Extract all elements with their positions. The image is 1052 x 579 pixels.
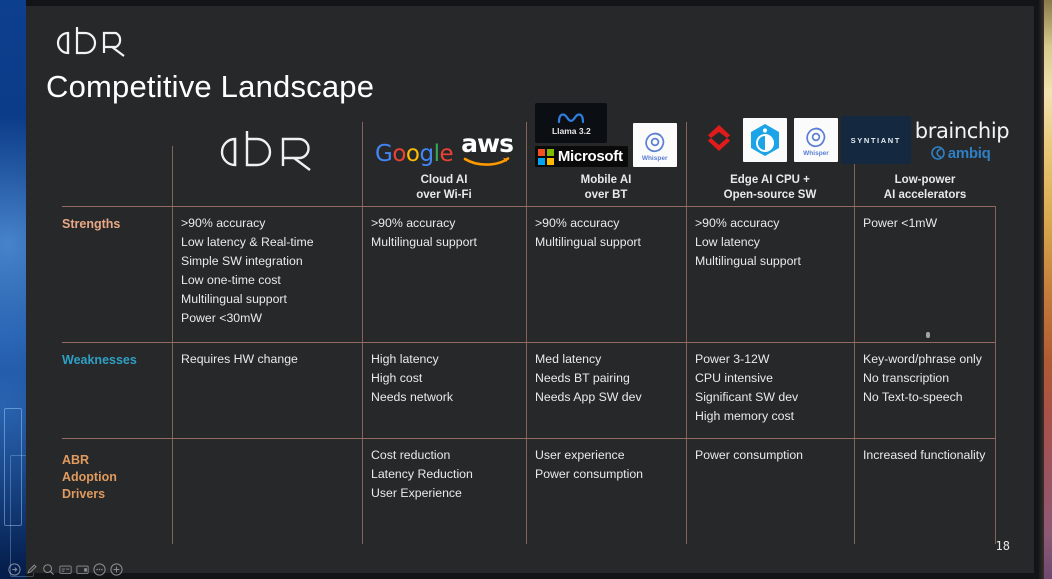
row-label-line: Weaknesses (62, 352, 137, 369)
slide-header: Competitive Landscape (46, 22, 374, 104)
ambiq-logo-icon: ambiq (915, 145, 991, 162)
ambiq-label: ambiq (948, 145, 991, 162)
cell-drivers-mobile-ai: User experience Power consumption (527, 438, 686, 544)
cell-line: No Text-to-speech (863, 388, 988, 407)
column-caption-cloud-ai: Cloud AI over Wi-Fi (416, 173, 471, 202)
cell-line: Power 3-12W (695, 350, 846, 369)
caption-line-1: Low-power (884, 173, 966, 187)
caption-line-1: Edge AI CPU + (724, 173, 817, 187)
cell-line: Latency Reduction (371, 465, 518, 484)
cell-line: User experience (535, 446, 678, 465)
column-header-abr: . (172, 94, 362, 206)
brainchip-logo-icon: brainchip (915, 119, 1009, 143)
cell-weaknesses-edge-ai: Power 3-12W CPU intensive Significant SW… (687, 342, 854, 438)
caption-line-1: Mobile AI (581, 173, 632, 187)
red-diamond-logo-icon (702, 123, 736, 158)
row-label-abr-adoption-drivers: ABR Adoption Drivers (62, 452, 117, 503)
column-header-mobile-ai: Llama 3.2 Microsoft (526, 94, 686, 206)
row-label-weaknesses: Weaknesses (62, 352, 137, 369)
more-options-icon[interactable] (93, 563, 106, 576)
cell-drivers-cloud-ai: Cost reduction Latency Reduction User Ex… (363, 438, 526, 544)
column-caption-mobile-ai: Mobile AI over BT (581, 173, 632, 202)
cell-line: CPU intensive (695, 369, 846, 388)
cell-line: No transcription (863, 369, 988, 388)
llama-label: Llama 3.2 (552, 126, 591, 136)
slide-page-number: 18 (996, 539, 1010, 553)
abr-brand-logo (46, 22, 374, 64)
syntiant-logo-icon: SYNTIANT (841, 116, 911, 164)
presentation-slide: Competitive Landscape (26, 6, 1034, 573)
cell-line: Multilingual support (535, 233, 678, 252)
cell-line: >90% accuracy (371, 214, 518, 233)
present-screen-icon[interactable] (76, 563, 89, 576)
whisper-label: Whisper (803, 150, 829, 157)
cell-line: >90% accuracy (181, 214, 354, 233)
column-header-low-power: SYNTIANT brainchip ambiq Low-power AI ac… (854, 94, 996, 206)
cell-strengths-cloud-ai: >90% accuracy Multilingual support (363, 206, 526, 342)
cell-strengths-low-power: Power <1mW (855, 206, 996, 342)
column-logos-edge-ai: Whisper (702, 113, 838, 167)
openai-whisper-logo-icon: Whisper (633, 123, 677, 167)
aws-logo-icon: aws (461, 133, 513, 168)
cell-line: User Experience (371, 484, 518, 503)
column-header-edge-ai: Whisper Edge AI CPU + Open-source SW (686, 94, 854, 206)
cell-line: Low latency (695, 233, 846, 252)
cell-strengths-mobile-ai: >90% accuracy Multilingual support (527, 206, 686, 342)
cell-line: Simple SW integration (181, 252, 354, 271)
subtitles-icon[interactable] (59, 563, 72, 576)
row-label-strengths: Strengths (62, 216, 120, 233)
backdrop-left-gradient (0, 0, 26, 579)
cell-line: Needs App SW dev (535, 388, 678, 407)
row-label-line: Adoption (62, 469, 117, 486)
cell-weaknesses-abr: Requires HW change (173, 342, 362, 438)
cell-line: Low one-time cost (181, 271, 354, 290)
caption-line-2: over Wi-Fi (416, 188, 471, 202)
caption-line-2: AI accelerators (884, 188, 966, 202)
google-logo-icon: Google (375, 141, 453, 167)
cell-line: Power consumption (535, 465, 678, 484)
magnifier-icon[interactable] (42, 563, 55, 576)
meta-llama-logo-icon: Llama 3.2 (535, 103, 607, 143)
microsoft-logo-icon: Microsoft (535, 146, 627, 167)
cell-line: Power <30mW (181, 309, 354, 328)
cell-weaknesses-cloud-ai: High latency High cost Needs network (363, 342, 526, 438)
cell-drivers-abr (173, 438, 362, 544)
syntiant-label: SYNTIANT (851, 136, 901, 145)
cell-line: Cost reduction (371, 446, 518, 465)
blue-hexagon-logo-icon (743, 118, 787, 162)
cell-drivers-low-power: Increased functionality (855, 438, 1003, 544)
cell-strengths-abr: >90% accuracy Low latency & Real-time Si… (173, 206, 362, 342)
cell-line: Increased functionality (863, 446, 995, 465)
competitive-landscape-table: . Google aws Cloud AI over Wi-Fi (36, 94, 996, 544)
row-label-line: Strengths (62, 216, 120, 233)
column-caption-low-power: Low-power AI accelerators (884, 173, 966, 202)
openai-whisper-logo-icon: Whisper (794, 118, 838, 162)
cell-line: Multilingual support (371, 233, 518, 252)
caption-line-2: over BT (581, 188, 632, 202)
cell-line: High cost (371, 369, 518, 388)
column-caption-edge-ai: Edge AI CPU + Open-source SW (724, 173, 817, 202)
cell-line: Needs BT pairing (535, 369, 678, 388)
cell-line: Power consumption (695, 446, 846, 465)
microsoft-label: Microsoft (558, 148, 623, 165)
caption-line-1: Cloud AI (416, 173, 471, 187)
presentation-toolbar[interactable] (8, 562, 123, 577)
column-logos-low-power: SYNTIANT brainchip ambiq (841, 113, 1009, 167)
cell-line: High memory cost (695, 407, 846, 426)
mouse-cursor (926, 332, 930, 338)
cell-line: Med latency (535, 350, 678, 369)
cell-line: Requires HW change (181, 350, 354, 369)
cell-line: Low latency & Real-time (181, 233, 354, 252)
cell-line: Key-word/phrase only (863, 350, 988, 369)
cell-weaknesses-low-power: Key-word/phrase only No transcription No… (855, 342, 996, 438)
whisper-label: Whisper (642, 155, 668, 162)
pen-icon[interactable] (25, 563, 38, 576)
pointer-icon[interactable] (8, 563, 21, 576)
column-header-cloud-ai: Google aws Cloud AI over Wi-Fi (362, 94, 526, 206)
column-logos-cloud-ai: Google aws (375, 113, 513, 167)
caption-line-2: Open-source SW (724, 188, 817, 202)
cell-drivers-edge-ai: Power consumption (687, 438, 854, 544)
cell-line: >90% accuracy (695, 214, 846, 233)
cell-line: Multilingual support (181, 290, 354, 309)
cell-line: Multilingual support (695, 252, 846, 271)
cell-line: High latency (371, 350, 518, 369)
cell-line: Significant SW dev (695, 388, 846, 407)
row-label-line: ABR (62, 452, 117, 469)
row-label-line: Drivers (62, 486, 117, 503)
backdrop-right-gradient (1044, 0, 1052, 579)
column-logos-mobile-ai: Llama 3.2 Microsoft (535, 103, 676, 167)
cell-line: Power <1mW (863, 214, 988, 233)
abr-wordmark-icon (205, 125, 329, 182)
column-logos-abr (205, 125, 329, 182)
cell-line: Needs network (371, 388, 518, 407)
cell-weaknesses-mobile-ai: Med latency Needs BT pairing Needs App S… (527, 342, 686, 438)
add-icon[interactable] (110, 563, 123, 576)
cell-strengths-edge-ai: >90% accuracy Low latency Multilingual s… (687, 206, 854, 342)
cell-line: >90% accuracy (535, 214, 678, 233)
